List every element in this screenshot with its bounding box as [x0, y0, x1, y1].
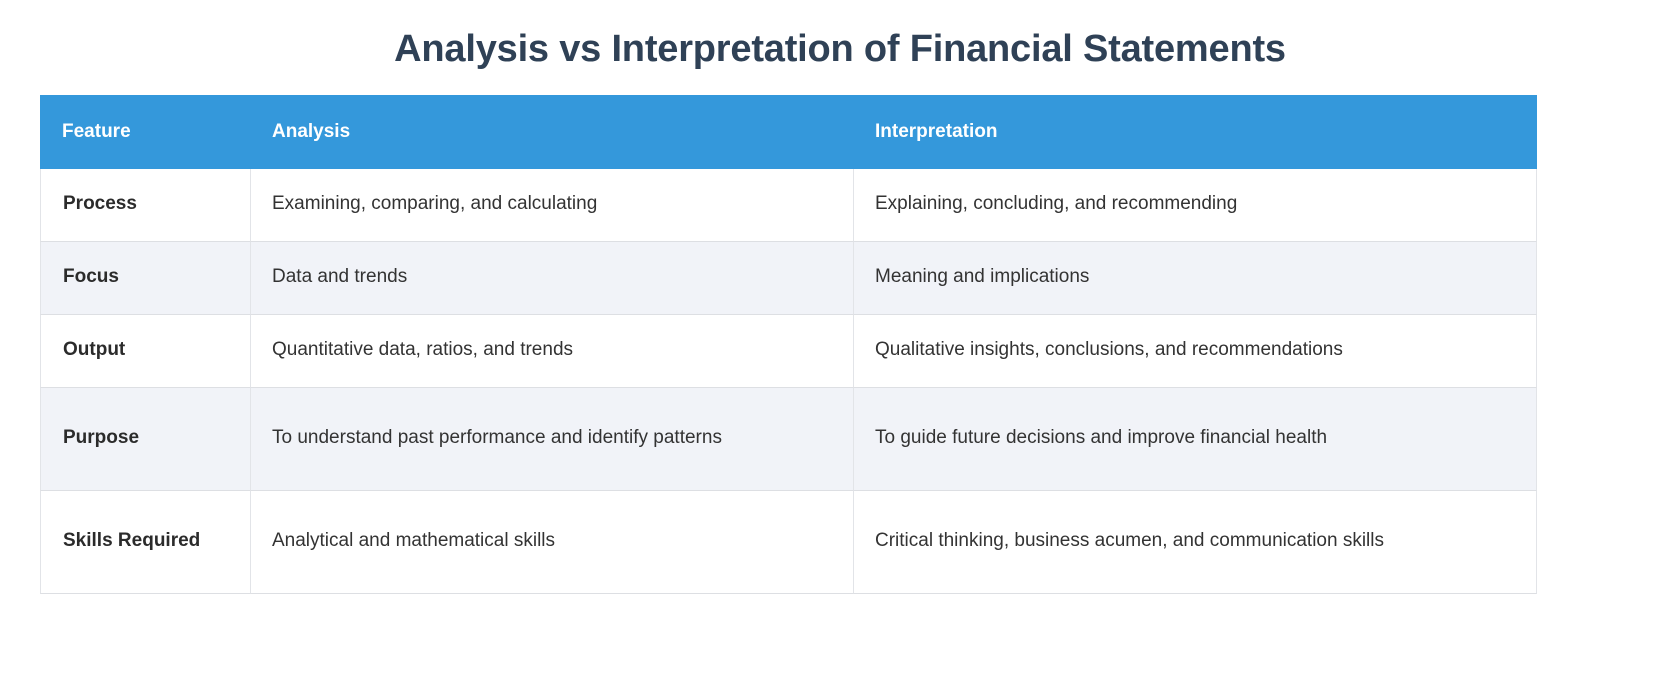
- table-body: Process Examining, comparing, and calcul…: [40, 169, 1537, 594]
- cell-interpretation: Meaning and implications: [854, 242, 1537, 315]
- cell-feature: Skills Required: [40, 491, 251, 594]
- cell-analysis: Examining, comparing, and calculating: [251, 169, 854, 242]
- cell-interpretation: Explaining, concluding, and recommending: [854, 169, 1537, 242]
- page-title: Analysis vs Interpretation of Financial …: [0, 0, 1680, 74]
- table-header-row: Feature Analysis Interpretation: [40, 95, 1537, 169]
- table-row: Purpose To understand past performance a…: [40, 388, 1537, 491]
- cell-analysis: Analytical and mathematical skills: [251, 491, 854, 594]
- cell-interpretation: To guide future decisions and improve fi…: [854, 388, 1537, 491]
- cell-analysis: Data and trends: [251, 242, 854, 315]
- cell-feature: Focus: [40, 242, 251, 315]
- cell-interpretation: Critical thinking, business acumen, and …: [854, 491, 1537, 594]
- cell-analysis: To understand past performance and ident…: [251, 388, 854, 491]
- cell-interpretation: Qualitative insights, conclusions, and r…: [854, 315, 1537, 388]
- comparison-table-container: Feature Analysis Interpretation Process …: [40, 95, 1537, 594]
- table-row: Skills Required Analytical and mathemati…: [40, 491, 1537, 594]
- table-row: Output Quantitative data, ratios, and tr…: [40, 315, 1537, 388]
- column-header-analysis: Analysis: [251, 95, 854, 169]
- column-header-interpretation: Interpretation: [854, 95, 1537, 169]
- page-root: Analysis vs Interpretation of Financial …: [0, 0, 1680, 698]
- cell-feature: Process: [40, 169, 251, 242]
- comparison-table: Feature Analysis Interpretation Process …: [40, 95, 1537, 594]
- cell-analysis: Quantitative data, ratios, and trends: [251, 315, 854, 388]
- column-header-feature: Feature: [40, 95, 251, 169]
- table-header: Feature Analysis Interpretation: [40, 95, 1537, 169]
- table-row: Process Examining, comparing, and calcul…: [40, 169, 1537, 242]
- table-row: Focus Data and trends Meaning and implic…: [40, 242, 1537, 315]
- cell-feature: Output: [40, 315, 251, 388]
- cell-feature: Purpose: [40, 388, 251, 491]
